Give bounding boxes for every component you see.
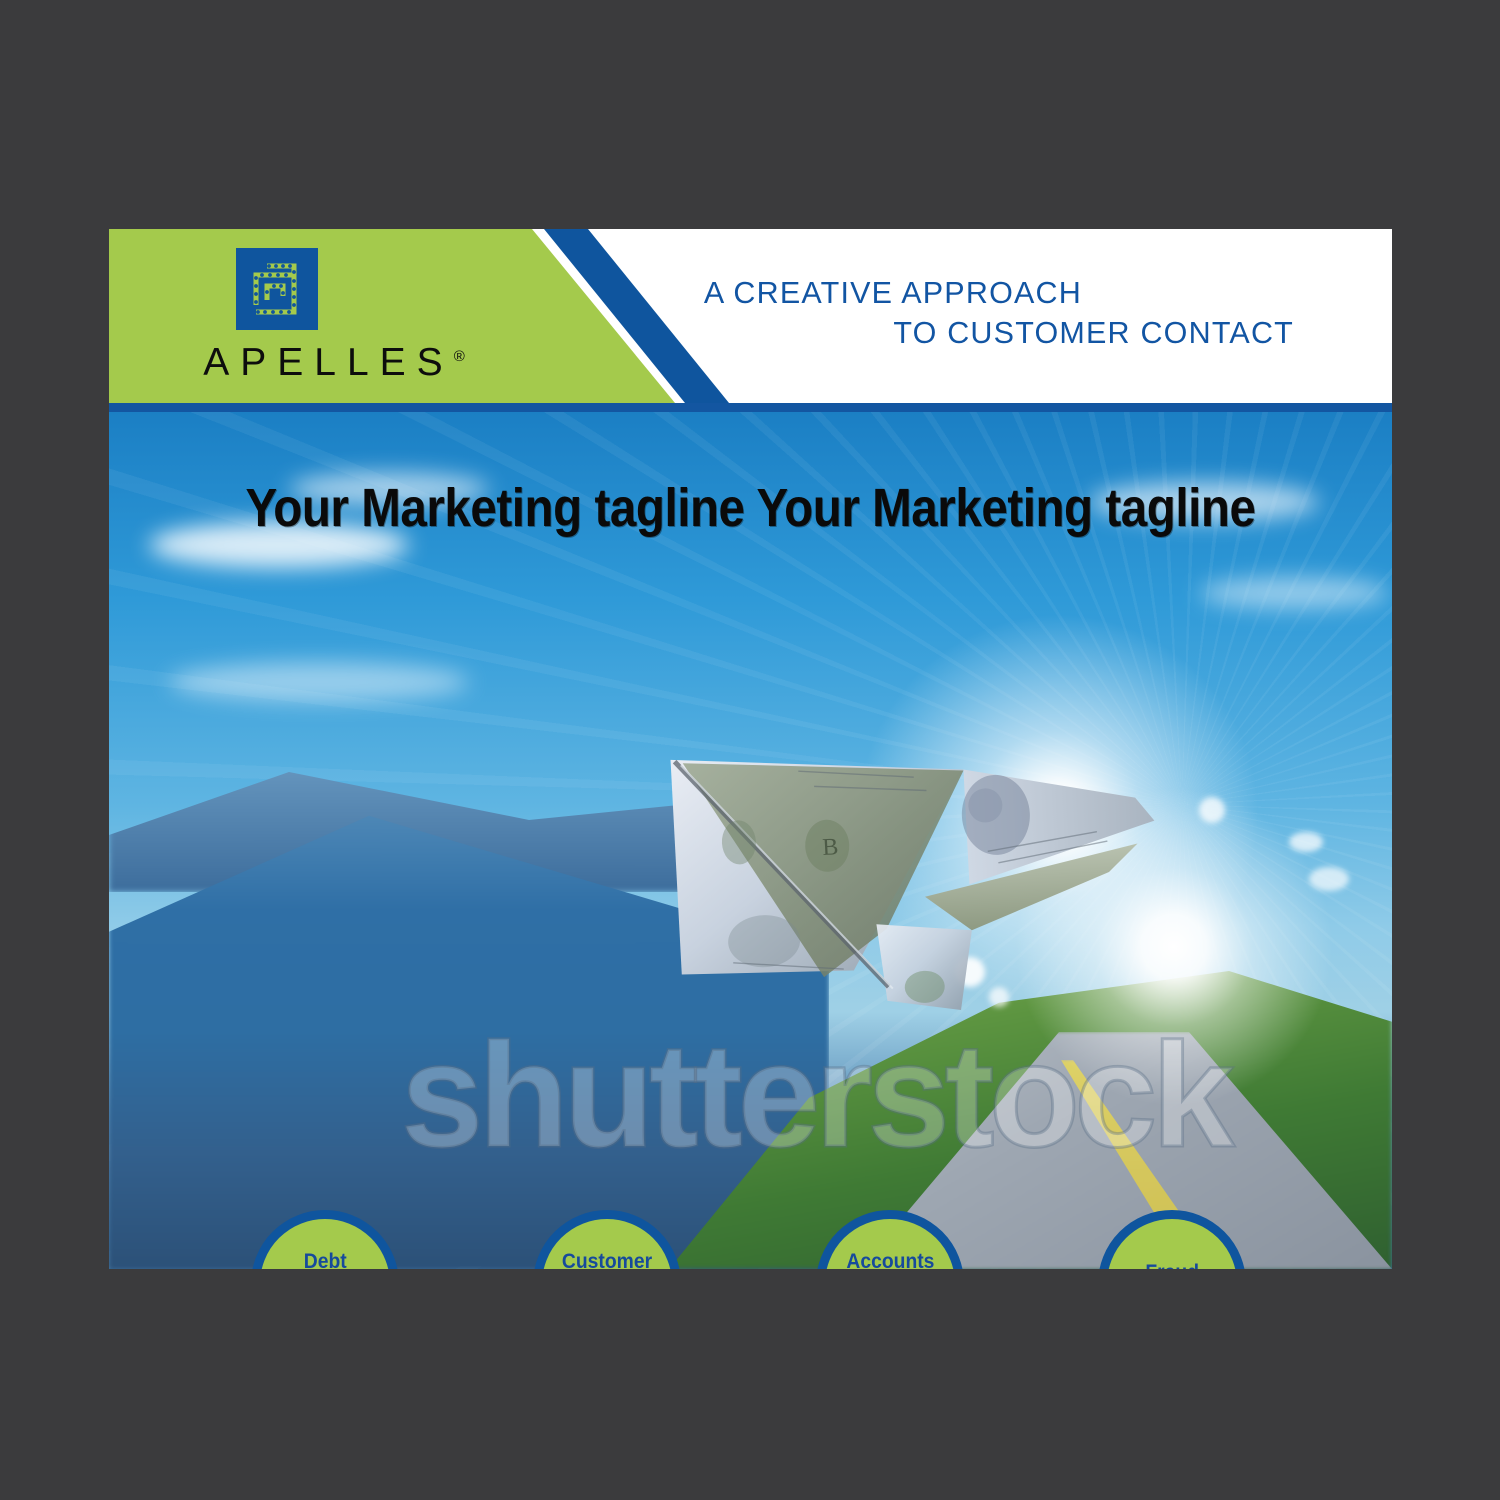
wordmark-text: APELLES <box>203 341 453 384</box>
flyer-card: APELLES® A CREATIVE APPROACH TO CUSTOMER… <box>109 229 1392 1269</box>
hero-image: B shutterstock Your Marketing tagline Yo… <box>109 412 1392 1269</box>
service-circle-label: Fraud Management <box>1113 1262 1231 1269</box>
cloud-shape <box>1199 577 1389 609</box>
header-divider-bar <box>109 403 1392 412</box>
service-circle-label: Customer Lifecycle Support <box>562 1251 652 1269</box>
bokeh-dot <box>1289 832 1323 852</box>
bokeh-dot <box>1199 797 1225 823</box>
svg-text:B: B <box>822 834 839 861</box>
wordmark-registered-mark: ® <box>454 348 465 365</box>
hero-marketing-tagline: Your Marketing tagline Your Marketing ta… <box>186 477 1315 539</box>
header: APELLES® A CREATIVE APPROACH TO CUSTOMER… <box>109 229 1392 403</box>
apelles-logo-icon[interactable] <box>236 248 318 330</box>
service-circle-label: Debt Recovery Service <box>282 1251 369 1269</box>
apelles-wordmark: APELLES® <box>174 341 494 385</box>
dollar-paper-airplane: B <box>662 724 1176 1030</box>
cloud-shape <box>169 662 469 702</box>
header-tagline-line-1: A CREATIVE APPROACH <box>704 273 1294 313</box>
header-tagline-line-2: TO CUSTOMER CONTACT <box>704 313 1294 353</box>
bokeh-dot <box>1309 867 1349 891</box>
shutterstock-watermark: shutterstock <box>401 1022 1141 1170</box>
header-tagline: A CREATIVE APPROACH TO CUSTOMER CONTACT <box>704 273 1294 353</box>
service-circle-label: Accounts Receivable Outsourcing <box>833 1251 948 1269</box>
